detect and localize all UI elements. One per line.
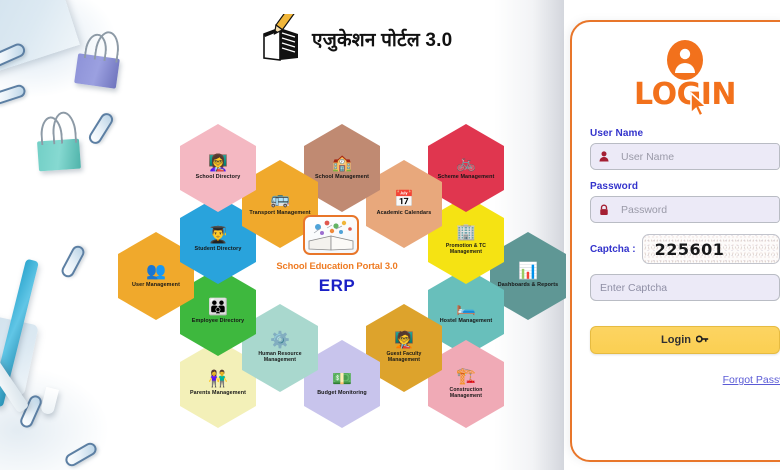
- hex-dashboards-reports-icon: 📊: [518, 264, 538, 280]
- paper-clip: [86, 111, 115, 147]
- hex-promotion-tc-management-icon: 🏢: [456, 225, 476, 241]
- login-wordmark: LOGIN: [590, 80, 780, 110]
- hex-school-management-icon: 🏫: [332, 156, 352, 172]
- login-badge: LOGIN: [590, 40, 780, 118]
- pen-tip: [40, 387, 59, 415]
- login-button-label: Login: [661, 334, 691, 346]
- key-icon: [696, 334, 709, 346]
- person-icon: [591, 144, 617, 169]
- user-avatar-icon: [666, 40, 704, 84]
- password-field-row[interactable]: [590, 196, 780, 223]
- hex-budget-monitoring-icon: 💵: [332, 372, 352, 388]
- open-book-ideas-icon: [303, 215, 359, 255]
- lock-icon: [591, 197, 617, 222]
- hex-student-directory-icon: 👨‍🎓: [208, 228, 228, 244]
- cluster-erp-label: ERP: [262, 276, 412, 296]
- book-pencil-icon: [258, 14, 304, 64]
- hex-academic-calendars-label: Academic Calendars: [377, 210, 432, 217]
- hex-employee-directory-icon: 👪: [208, 300, 228, 316]
- hex-school-directory-label: School Directory: [196, 174, 241, 181]
- hex-scheme-management-icon: 🚲: [456, 156, 476, 172]
- captcha-code: 225601: [655, 240, 725, 259]
- paper-clip: [63, 440, 99, 468]
- hex-promotion-tc-management-label: Promotion & TC Management: [434, 243, 498, 256]
- paper-sheet: [0, 0, 80, 75]
- hex-academic-calendars-icon: 📅: [394, 192, 414, 208]
- hex-dashboards-reports-label: Dashboards & Reports: [498, 282, 558, 289]
- hex-human-resource-mgmt-label: Human Resource Management: [248, 351, 312, 364]
- hex-parents-management-label: Parents Management: [190, 390, 246, 397]
- page-title: एजुकेशन पोर्टल 3.0: [312, 26, 452, 52]
- hex-school-management-label: School Management: [315, 174, 369, 181]
- hex-construction-mgmt-label: Construction Management: [434, 387, 498, 400]
- page-header: एजुकेशन पोर्टल 3.0: [258, 14, 452, 64]
- captcha-image: 225601: [642, 234, 780, 264]
- hex-employee-directory-label: Employee Directory: [192, 318, 244, 325]
- hex-transport-management-icon: 🚌: [270, 192, 290, 208]
- forgot-password-link[interactable]: Forgot Password: [590, 374, 780, 386]
- captcha-label: Captcha :: [590, 244, 636, 255]
- hex-parents-management-icon: 👫: [208, 372, 228, 388]
- hex-guest-faculty-mgmt-icon: 🧑‍🏫: [394, 333, 414, 349]
- password-label: Password: [590, 181, 780, 192]
- hex-transport-management-label: Transport Management: [249, 210, 310, 217]
- hex-student-directory-label: Student Directory: [195, 246, 242, 253]
- username-input[interactable]: [617, 144, 779, 169]
- binder-clip-purple: [74, 53, 120, 89]
- hex-budget-monitoring-label: Budget Monitoring: [317, 390, 367, 397]
- username-field-row[interactable]: [590, 143, 780, 170]
- captcha-input[interactable]: [590, 274, 780, 301]
- mouse-cursor-icon: [689, 92, 709, 123]
- hex-guest-faculty-mgmt-label: Guest Faculty Management: [372, 351, 436, 364]
- paper-clip: [0, 83, 27, 106]
- cluster-title: School Education Portal 3.0: [262, 260, 412, 271]
- hex-human-resource-mgmt-icon: ⚙️: [270, 333, 290, 349]
- hex-school-directory-icon: 👩‍🏫: [208, 156, 228, 172]
- hex-hostel-management-label: Hostel Management: [440, 318, 493, 325]
- hex-scheme-management-label: Scheme Management: [438, 174, 495, 181]
- username-label: User Name: [590, 128, 780, 139]
- password-input[interactable]: [617, 197, 779, 222]
- module-hexagon-cluster: 📊Dashboards & Reports🛏️Hostel Management…: [118, 110, 558, 400]
- binder-clip-teal: [37, 139, 81, 172]
- captcha-row: Captcha : 225601: [590, 234, 780, 264]
- hex-construction-mgmt-icon: 🏗️: [456, 369, 476, 385]
- paper-clip: [59, 243, 86, 279]
- hex-hostel-management-icon: 🛏️: [456, 300, 476, 316]
- login-button[interactable]: Login: [590, 326, 780, 354]
- hex-user-management-icon: 👥: [146, 264, 166, 280]
- login-panel: LOGIN User Name Password Captcha :: [570, 20, 780, 462]
- hex-user-management-label: User Management: [132, 282, 180, 289]
